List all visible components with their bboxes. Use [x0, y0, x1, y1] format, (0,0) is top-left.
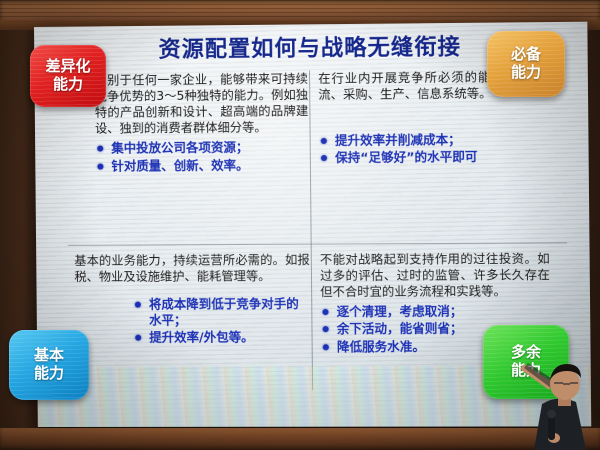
horizontal-divider [68, 242, 567, 245]
badge-line-2: 能力 [53, 76, 83, 94]
quadrant-paragraph: 不能对战略起到支持作用的过往投资。如过多的评估、过时的监管、许多长久存在但不合时… [320, 251, 550, 301]
list-item: 将成本降到低于竞争对手的水平； [133, 296, 311, 329]
badge-line-1: 差异化 [45, 58, 90, 76]
list-item: 提升效率/外包等。 [133, 330, 311, 347]
presenter-figure [508, 352, 600, 450]
badge-differentiating-capability: 差异化 能力 [30, 45, 106, 107]
badge-line-1: 基本 [34, 347, 64, 365]
badge-line-2: 能力 [511, 64, 541, 82]
microphone-head [547, 410, 556, 419]
conference-room-photo: 资源配置如何与战略无缝衔接 有别于任何一家企业，能够带来可持续竞争优势的3～5种… [0, 0, 600, 450]
quadrant-paragraph: 基本的业务能力，持续运营所必需的。如报税、物业及设施维护、能耗管理等。 [74, 252, 310, 285]
badge-line-2: 能力 [34, 365, 64, 383]
quadrant-differentiating: 有别于任何一家企业，能够带来可持续竞争优势的3～5种独特的能力。例如独特的产品创… [95, 71, 309, 176]
list-item: 逐个清理，考虑取消； [320, 303, 550, 320]
badge-basic-capability: 基本 能力 [9, 330, 89, 400]
quadrant-bullet-list: 集中投放公司各项资源； 针对质量、创新、效率。 [95, 139, 309, 174]
list-item: 提升效率并削减成本； [319, 131, 545, 149]
presenter-torso [534, 398, 586, 450]
badge-table-stakes-capability: 必备 能力 [487, 31, 565, 97]
list-item: 集中投放公司各项资源； [95, 139, 309, 157]
quadrant-bullet-list: 将成本降到低于竞争对手的水平； 提升效率/外包等。 [133, 296, 311, 346]
badge-line-1: 必备 [511, 46, 541, 64]
quadrant-bullet-list: 提升效率并削减成本； 保持“足够好”的水平即可 [319, 131, 545, 166]
list-item: 针对质量、创新、效率。 [95, 157, 309, 175]
quadrant-paragraph: 有别于任何一家企业，能够带来可持续竞争优势的3～5种独特的能力。例如独特的产品创… [95, 71, 309, 137]
presenter-sleeve [524, 363, 554, 388]
quadrant-basic: 基本的业务能力，持续运营所必需的。如报税、物业及设施维护、能耗管理等。 将成本降… [74, 252, 310, 348]
list-item: 保持“足够好”的水平即可 [319, 149, 545, 167]
